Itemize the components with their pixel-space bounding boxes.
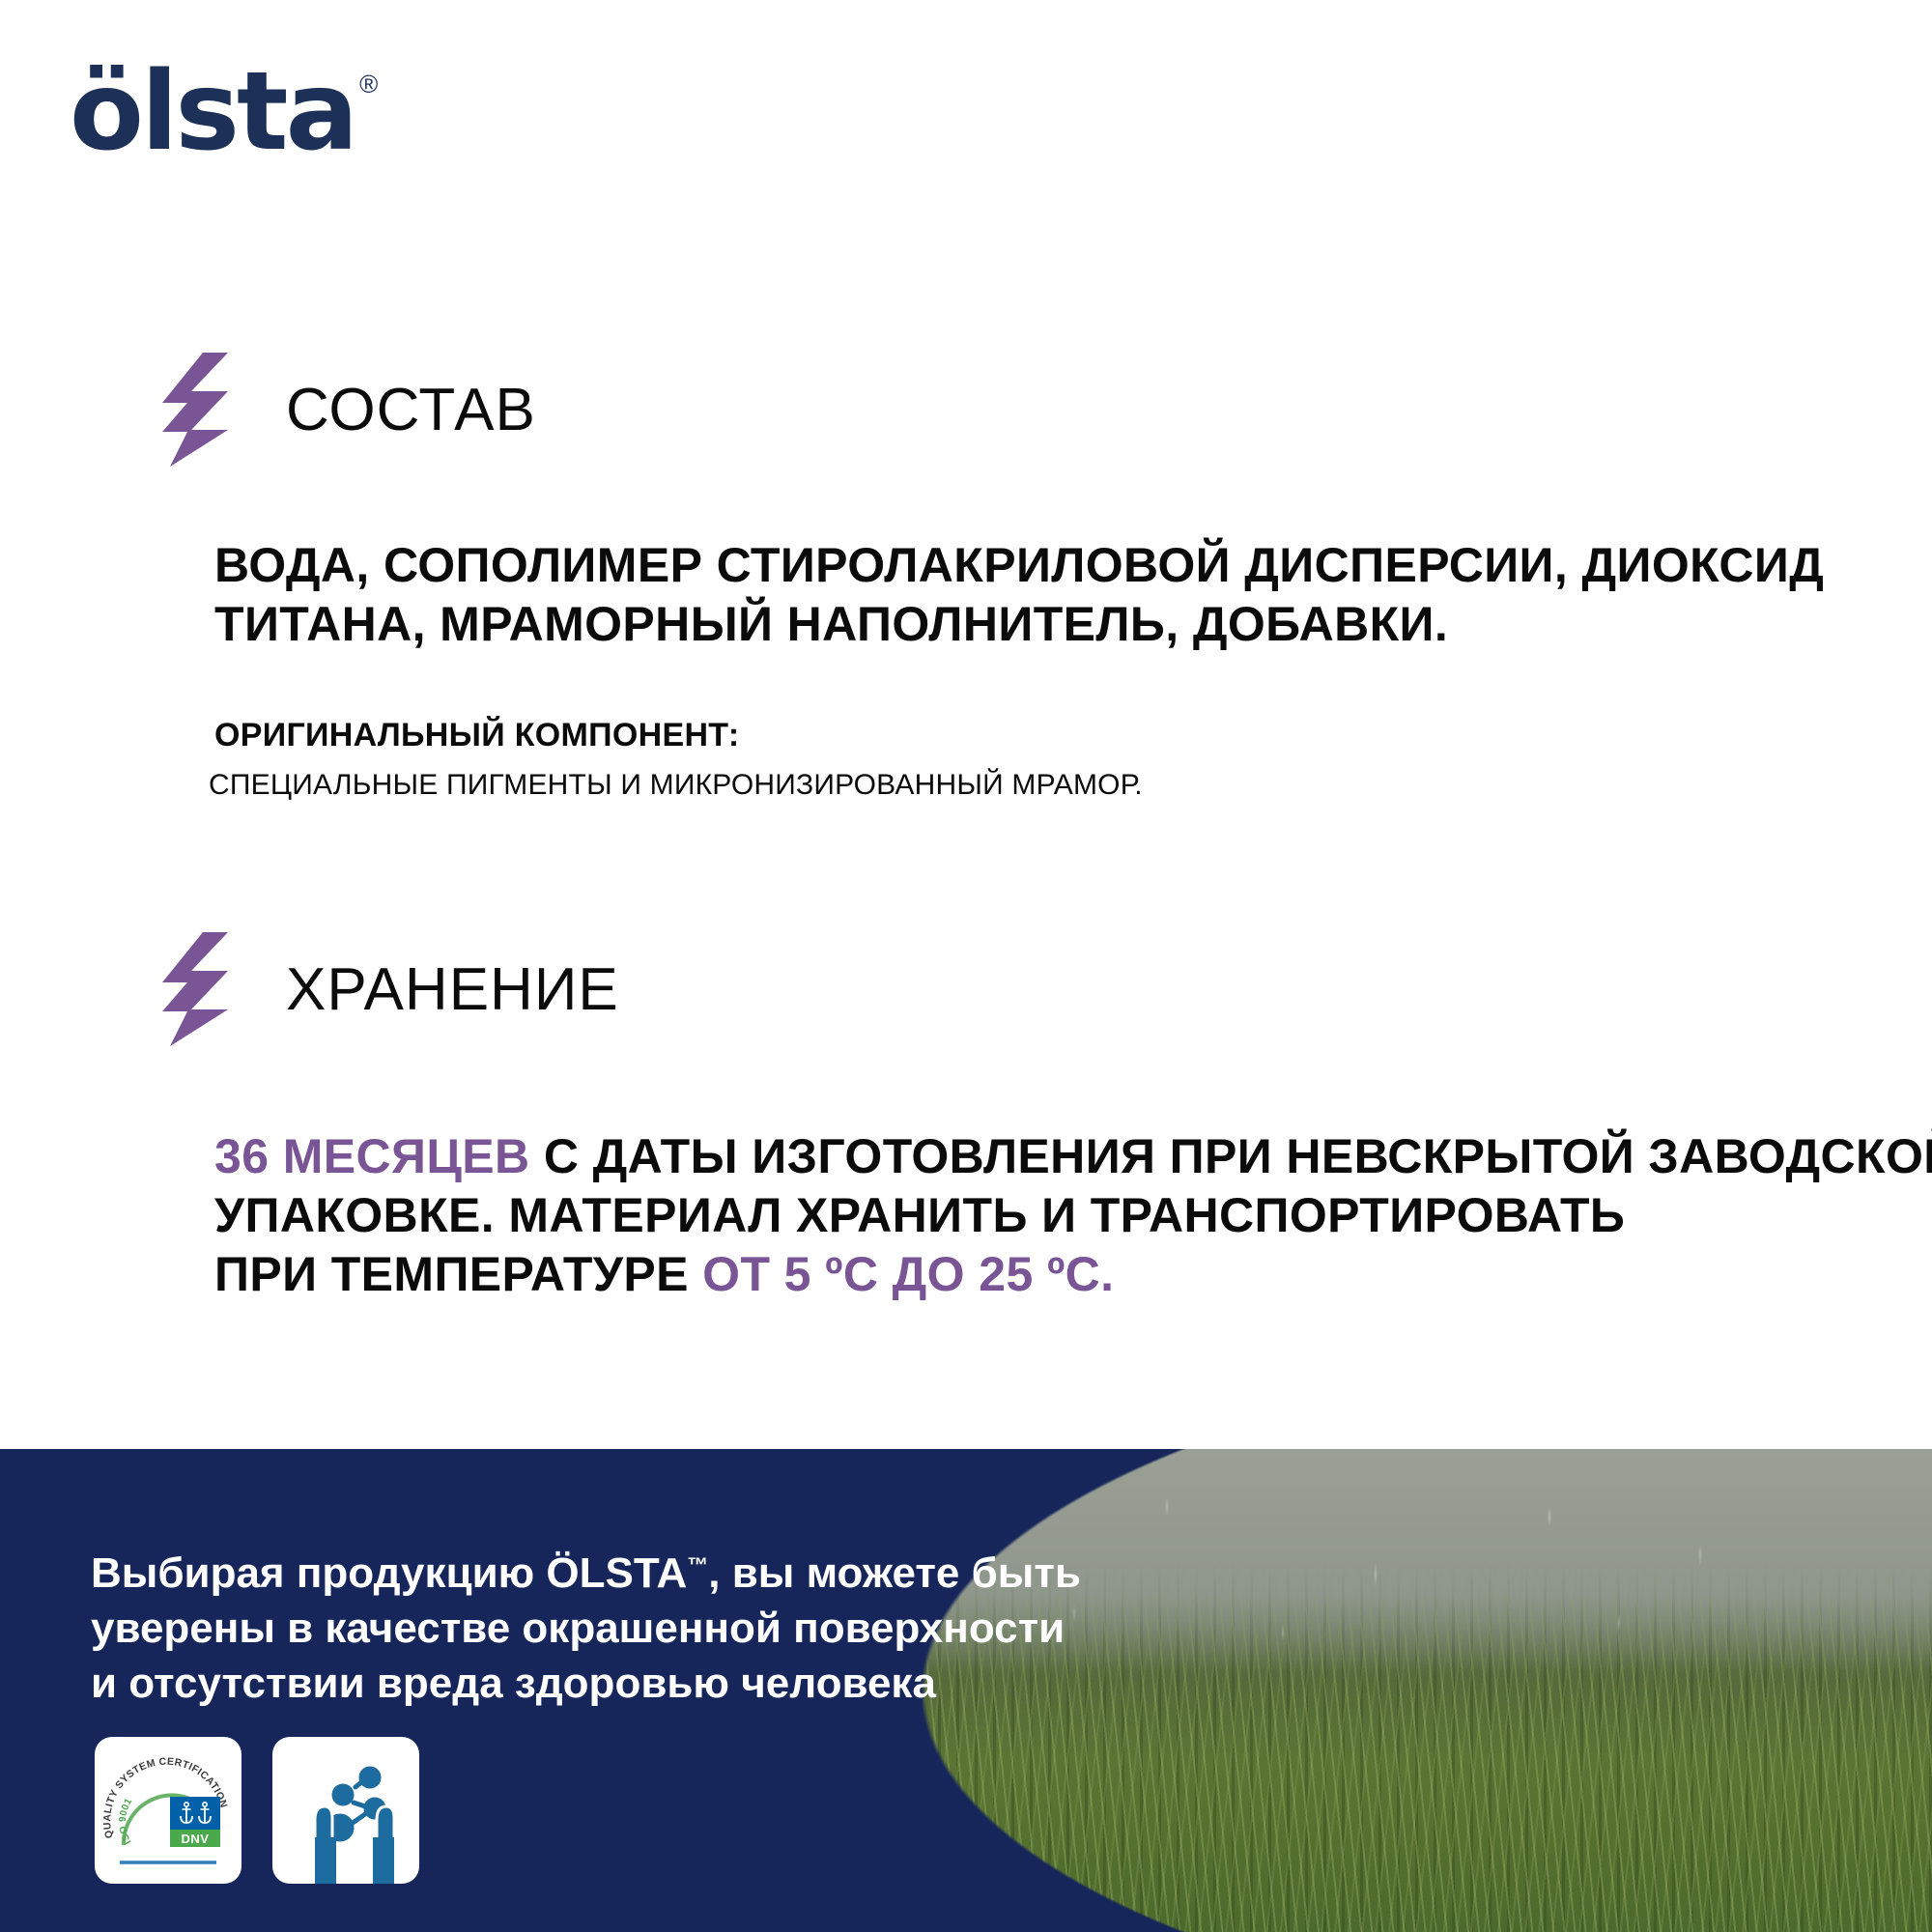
composition-title: СОСТАВ (286, 376, 536, 444)
storage-header: ХРАНЕНИЕ (0, 932, 1932, 1046)
storage-temp-prefix: ПРИ ТЕМПЕРАТУРЕ (214, 1247, 702, 1301)
storage-duration-highlight: 36 МЕСЯЦЕВ (214, 1129, 530, 1183)
certification-badges: QUALITY SYSTEM CERTIFICATION ISO 9001 (95, 1737, 419, 1884)
brand-logo: ölsta ® (70, 58, 378, 166)
product-info-page: ölsta ® СОСТАВ ВОДА, СОПОЛИМЕР СТИРОЛАКР… (0, 0, 1932, 1932)
footer-line-1-part2: , вы можете быть (708, 1549, 1081, 1597)
eco-safe-hands-badge (272, 1737, 419, 1884)
storage-body: 36 МЕСЯЦЕВ С ДАТЫ ИЗГОТОВЛЕНИЯ ПРИ НЕВСК… (0, 1127, 1932, 1304)
footer-line-1-part1: Выбирая продукцию ÖLSTA (91, 1549, 687, 1597)
dnv-label: DNV (170, 1830, 220, 1847)
section-storage: ХРАНЕНИЕ 36 МЕСЯЦЕВ С ДАТЫ ИЗГОТОВЛЕНИЯ … (0, 932, 1932, 1304)
composition-line-1: ВОДА, СОПОЛИМЕР СТИРОЛАКРИЛОВОЙ ДИСПЕРСИ… (214, 536, 1787, 595)
storage-title: ХРАНЕНИЕ (286, 955, 619, 1024)
svg-text:ISO 9001: ISO 9001 (118, 1797, 134, 1846)
hands-holding-molecules-icon (272, 1737, 419, 1884)
storage-temp-highlight: ОТ 5 ºС ДО 25 ºС. (702, 1247, 1114, 1301)
trademark-icon: ™ (687, 1552, 708, 1577)
composition-header: СОСТАВ (0, 353, 1932, 467)
storage-line-1-rest: С ДАТЫ ИЗГОТОВЛЕНИЯ ПРИ НЕВСКРЫТОЙ ЗАВОД… (530, 1129, 1932, 1183)
original-component-detail: СПЕЦИАЛЬНЫЕ ПИГМЕНТЫ И МИКРОНИЗИРОВАННЫЙ… (209, 766, 1787, 806)
section-composition: СОСТАВ ВОДА, СОПОЛИМЕР СТИРОЛАКРИЛОВОЙ Д… (0, 353, 1932, 806)
composition-line-2: ТИТАНА, МРАМОРНЫЙ НАПОЛНИТЕЛЬ, ДОБАВКИ. (214, 595, 1787, 654)
anchor-icon (179, 1802, 194, 1825)
logo-wordmark: ölsta (70, 58, 355, 166)
storage-line-1: 36 МЕСЯЦЕВ С ДАТЫ ИЗГОТОВЛЕНИЯ ПРИ НЕВСК… (214, 1127, 1787, 1186)
dnv-mark: DNV (170, 1797, 220, 1847)
anchor-icon (197, 1802, 213, 1825)
dnv-iso-9001-badge: QUALITY SYSTEM CERTIFICATION ISO 9001 (95, 1737, 241, 1884)
composition-body: ВОДА, СОПОЛИМЕР СТИРОЛАКРИЛОВОЙ ДИСПЕРСИ… (0, 536, 1932, 806)
storage-line-2: УПАКОВКЕ. МАТЕРИАЛ ХРАНИТЬ И ТРАНСПОРТИР… (214, 1186, 1787, 1245)
footer-message: Выбирая продукцию ÖLSTA™, вы можете быть… (91, 1546, 989, 1712)
original-component-label: ОРИГИНАЛЬНЫЙ КОМПОНЕНТ: (214, 714, 1787, 756)
storage-line-3: ПРИ ТЕМПЕРАТУРЕ ОТ 5 ºС ДО 25 ºС. (214, 1245, 1787, 1304)
lightning-bolt-icon (145, 932, 228, 1046)
registered-trademark-icon: ® (359, 70, 378, 99)
footer-line-3: и отсутствии вреда здоровью человека (91, 1656, 989, 1711)
footer-line-1: Выбирая продукцию ÖLSTA™, вы можете быть (91, 1546, 989, 1601)
footer-line-2: уверены в качестве окрашенной поверхност… (91, 1601, 989, 1656)
footer-panel: Выбирая продукцию ÖLSTA™, вы можете быть… (0, 1449, 1932, 1932)
lightning-bolt-icon (145, 353, 228, 467)
dnv-anchors-icon (170, 1797, 220, 1830)
